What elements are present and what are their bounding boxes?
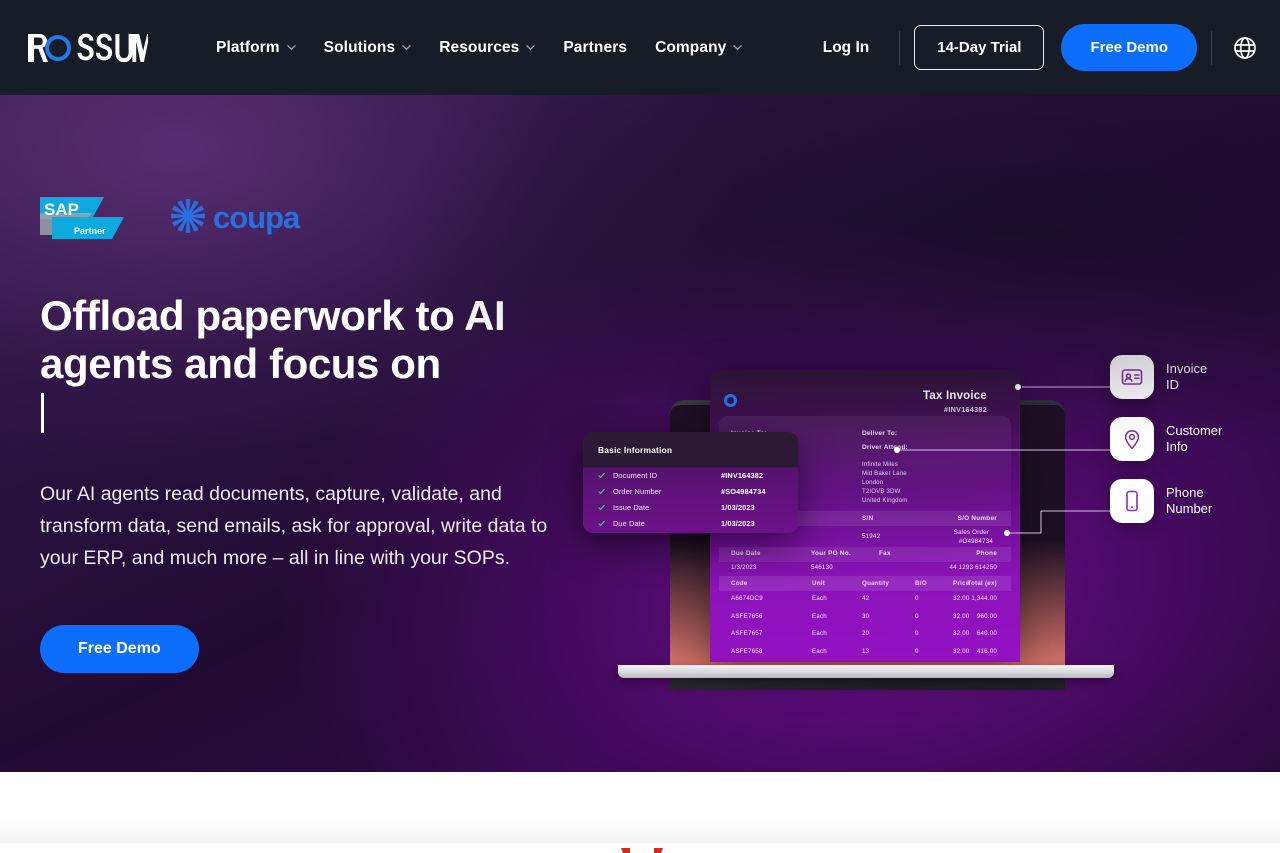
hero-free-demo-button[interactable]: Free Demo — [40, 625, 199, 673]
basic-row-value: 1/03/2023 — [721, 503, 755, 512]
basic-information-row: Order Number #SO4984734 — [583, 485, 798, 501]
basic-information-row: Due Date 1/03/2023 — [583, 517, 798, 533]
headline-line-2: agents and focus on — [40, 340, 600, 388]
deliver-to-label: Deliver To: — [862, 430, 897, 437]
field-tag-line-1: Customer — [1166, 423, 1222, 439]
sales-order-label: Sales Order — [954, 529, 989, 536]
next-section-top — [0, 772, 1280, 853]
field-tag-phone-number: Phone Number — [1110, 479, 1212, 523]
hero-section: SAP Partner — [0, 95, 1280, 772]
sales-order-value: #O4984734 — [959, 538, 993, 545]
table-row: A6674DC9 Each 42 0 32.00 1,344.00 — [719, 591, 1011, 609]
svg-text:Partner: Partner — [74, 226, 106, 236]
nav-free-demo-button[interactable]: Free Demo — [1061, 24, 1197, 71]
address-line-2: Mid Baker Lane — [862, 469, 907, 478]
invoice-title: Tax Invoice — [923, 390, 987, 402]
cell-code: ASFE7656 — [731, 613, 763, 620]
nav-item-resources[interactable]: Resources — [439, 39, 535, 57]
address-line-3: London — [862, 478, 883, 487]
table-row: ASFE7657 Each 20 0 32.00 640.00 — [719, 626, 1011, 644]
nav-divider — [1211, 31, 1212, 65]
cell-quantity: 42 — [862, 595, 869, 602]
chevron-down-icon — [287, 43, 296, 52]
cell-bo: 0 — [915, 630, 919, 637]
line-items-table: Code Unit Quantity B/O Price Total (ex) … — [719, 576, 1011, 662]
phone-value: 44 1293 614250 — [949, 564, 997, 571]
column-header-quantity: Quantity — [862, 580, 889, 587]
fax-label: Fax — [879, 550, 891, 557]
nav-item-partners[interactable]: Partners — [563, 39, 627, 57]
check-icon — [598, 504, 605, 511]
nav-item-company-label: Company — [655, 39, 726, 57]
basic-row-key: Order Number — [613, 487, 661, 496]
basic-row-value: 1/03/2023 — [721, 519, 755, 528]
hero-headline: Offload paperwork to AI agents and focus… — [40, 292, 600, 436]
basic-row-key: Document ID — [613, 471, 657, 480]
chevron-down-icon — [526, 43, 535, 52]
svg-text:SAP: SAP — [44, 200, 79, 219]
basic-row-value: #INV164382 — [721, 471, 763, 480]
cell-unit: Each — [812, 630, 827, 637]
field-tag-label: Customer Info — [1166, 423, 1222, 455]
cell-total: 640.00 — [977, 630, 997, 637]
location-pin-icon — [1110, 417, 1154, 461]
hero-subheading: Our AI agents read documents, capture, v… — [40, 478, 585, 574]
due-date-value: 1/3/2023 — [731, 564, 757, 571]
hero-illustration: Tax Invoice #INV164382 Invoice To: Deliv… — [575, 255, 1280, 695]
cell-quantity: 30 — [862, 613, 869, 620]
basic-row-key: Issue Date — [613, 503, 649, 512]
basic-information-row: Issue Date 1/03/2023 — [583, 501, 798, 517]
headline-typing-line — [40, 388, 600, 436]
rossum-logo[interactable] — [28, 28, 148, 68]
phone-icon — [1110, 479, 1154, 523]
cell-total: 416.00 — [977, 648, 997, 655]
address-line-5: United Kingdom — [862, 496, 907, 505]
basic-information-title: Basic Information — [598, 445, 672, 455]
driver-attend-label: Driver Attend: — [862, 444, 908, 451]
cell-code: ASFE7658 — [731, 648, 763, 655]
cell-unit: Each — [812, 595, 827, 602]
field-tag-label: Invoice ID — [1166, 361, 1207, 393]
navigation-actions: Log In 14-Day Trial Free Demo — [807, 24, 1280, 71]
cell-price: 32.00 — [953, 613, 969, 620]
cell-price: 32.00 — [953, 630, 969, 637]
basic-information-card: Basic Information Document ID #INV164382… — [583, 432, 798, 533]
cell-price: 32.00 — [953, 648, 969, 655]
column-header-unit: Unit — [812, 580, 825, 587]
column-header-total: Total (ex) — [967, 580, 997, 587]
column-header-code: Code — [731, 580, 747, 587]
cell-code: A6674DC9 — [731, 595, 763, 602]
svg-text:coupa: coupa — [213, 200, 301, 235]
po-number-value: 546130 — [811, 564, 833, 571]
partner-logo-partial — [621, 841, 663, 853]
app-dot-icon — [724, 394, 737, 407]
nav-item-solutions[interactable]: Solutions — [324, 39, 412, 57]
cell-bo: 0 — [915, 613, 919, 620]
field-tag-customer-info: Customer Info — [1110, 417, 1222, 461]
top-navigation-bar: Platform Solutions Resources Partners Co… — [0, 0, 1280, 95]
id-card-icon — [1110, 355, 1154, 399]
coupa-logo: coupa — [168, 196, 311, 236]
cell-code: ASFE7657 — [731, 630, 763, 637]
basic-information-row: Document ID #INV164382 — [583, 469, 798, 485]
table-row: ASFE7658 Each 13 0 32.00 416.00 — [719, 644, 1011, 662]
sap-partner-logo: SAP Partner — [40, 191, 124, 241]
field-tag-invoice-id: Invoice ID — [1110, 355, 1207, 399]
cell-unit: Each — [812, 648, 827, 655]
cell-bo: 0 — [915, 648, 919, 655]
check-icon — [598, 488, 605, 495]
nav-item-company[interactable]: Company — [655, 39, 742, 57]
section-shadow — [0, 819, 1280, 843]
field-tag-line-2: ID — [1166, 377, 1207, 393]
cell-price: 32.00 — [953, 595, 969, 602]
cell-quantity: 20 — [862, 630, 869, 637]
table-row: ASFE7656 Each 30 0 32.00 960.00 — [719, 609, 1011, 627]
cell-total: 960.00 — [977, 613, 997, 620]
nav-item-platform[interactable]: Platform — [216, 39, 296, 57]
globe-icon[interactable] — [1232, 35, 1258, 61]
field-tag-line-2: Number — [1166, 501, 1212, 517]
invoice-document-header: Tax Invoice #INV164382 — [710, 370, 1020, 416]
chevron-down-icon — [733, 43, 742, 52]
invoice-band — [719, 547, 1011, 562]
nav-divider — [899, 31, 900, 65]
check-icon — [598, 472, 605, 479]
po-number-label: Your PO No. — [811, 550, 851, 557]
sn-label: S/N — [862, 515, 873, 522]
field-tag-line-2: Info — [1166, 439, 1222, 455]
partner-logos: SAP Partner — [40, 191, 311, 241]
cell-unit: Each — [812, 613, 827, 620]
table-row: ASFE7659 Each 23 0 32.00 736.00 — [719, 661, 1011, 662]
text-caret — [41, 393, 44, 433]
cell-total: 1,344.00 — [971, 595, 997, 602]
nav-item-platform-label: Platform — [216, 39, 280, 57]
phone-label: Phone — [976, 550, 997, 557]
nav-item-resources-label: Resources — [439, 39, 519, 57]
log-in-link[interactable]: Log In — [807, 39, 886, 57]
laptop-base — [618, 665, 1114, 678]
so-number-label: S/O Number — [958, 515, 997, 522]
basic-row-key: Due Date — [613, 519, 645, 528]
cell-quantity: 13 — [862, 648, 869, 655]
chevron-down-icon — [402, 43, 411, 52]
table-header-row: Code Unit Quantity B/O Price Total (ex) — [719, 576, 1011, 591]
cell-bo: 0 — [915, 595, 919, 602]
address-line-1: Infinite Miles — [862, 460, 898, 469]
due-date-label: Due Date — [731, 550, 761, 557]
field-tag-line-1: Invoice — [1166, 361, 1207, 377]
sn-value: 51942 — [862, 533, 880, 540]
headline-line-1: Offload paperwork to AI — [40, 292, 600, 340]
address-line-4: T2IOVB 3DW — [862, 487, 900, 496]
nav-item-solutions-label: Solutions — [324, 39, 396, 57]
field-tag-line-1: Phone — [1166, 485, 1212, 501]
basic-row-value: #SO4984734 — [721, 487, 766, 496]
field-tag-label: Phone Number — [1166, 485, 1212, 517]
column-header-bo: B/O — [915, 580, 927, 587]
trial-button[interactable]: 14-Day Trial — [914, 25, 1044, 70]
main-navigation-links: Platform Solutions Resources Partners Co… — [216, 39, 742, 57]
invoice-number: #INV164382 — [944, 405, 987, 414]
check-icon — [598, 520, 605, 527]
nav-item-partners-label: Partners — [563, 39, 627, 57]
